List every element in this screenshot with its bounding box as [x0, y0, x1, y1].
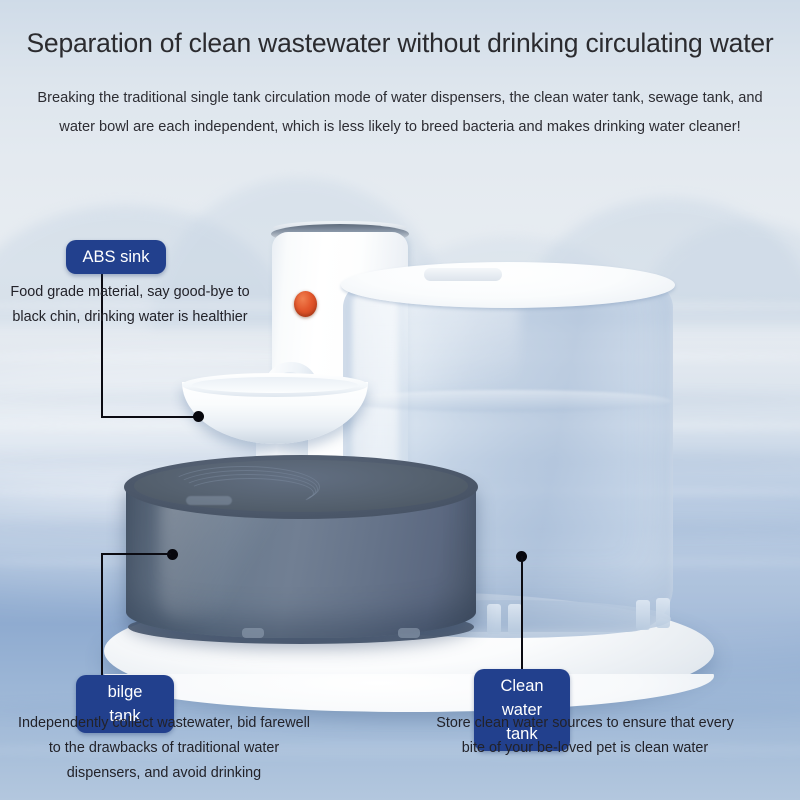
clean-water-tank-foot — [636, 600, 650, 630]
abs-sink-bowl-inner — [192, 377, 358, 393]
clean-water-tank-lid-tab[interactable] — [424, 268, 502, 281]
clean-water-tank-highlight — [400, 300, 520, 386]
bilge-tank-leader-horizontal — [101, 553, 171, 555]
description-clean-water-tank: Store clean water sources to ensure that… — [430, 711, 740, 761]
product-infographic-poster: Separation of clean wastewater without d… — [0, 0, 800, 800]
clean-water-tank-foot — [656, 598, 670, 628]
power-button[interactable] — [294, 291, 317, 317]
clean-water-tank-waterline — [345, 390, 671, 412]
clean-water-tank-foot — [508, 604, 522, 634]
bilge-tank-handle[interactable] — [186, 496, 232, 505]
abs-sink-leader-horizontal — [101, 416, 199, 418]
bilge-tank-foot — [242, 628, 264, 638]
clean-water-tank-leader-vertical — [521, 556, 523, 674]
badge-abs-sink[interactable]: ABS sink — [66, 240, 166, 274]
description-abs-sink: Food grade material, say good-bye to bla… — [6, 280, 254, 330]
abs-sink-leader-dot — [193, 411, 204, 422]
clean-water-tank-lid[interactable] — [341, 262, 675, 308]
clean-water-tank-foot — [487, 604, 501, 634]
description-bilge-tank: Independently collect wastewater, bid fa… — [14, 711, 314, 786]
bilge-tank-foot — [398, 628, 420, 638]
bilge-tank-leader-vertical — [101, 553, 103, 677]
